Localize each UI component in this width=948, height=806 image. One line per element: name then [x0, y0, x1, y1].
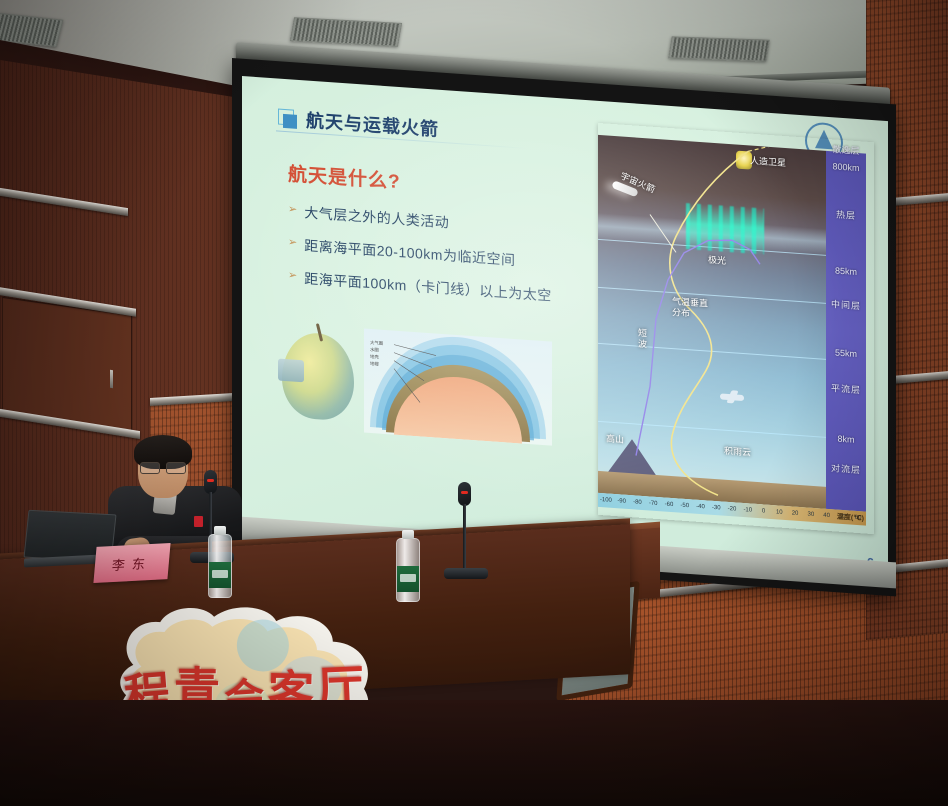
floor	[0, 700, 948, 806]
diagram-label: 气温垂直分布	[672, 296, 710, 321]
diagram-label: 积雨云	[724, 444, 751, 459]
arrow-bullet-icon: ➢	[288, 267, 297, 285]
bottle-cap	[402, 530, 414, 539]
microphone-led-icon	[461, 491, 468, 494]
list-item-label: 距离海平面20-100km为临近空间	[304, 235, 515, 270]
axis-tick: -30	[708, 505, 724, 512]
axis-tick: 0	[756, 508, 772, 515]
axis-tick: -20	[724, 506, 740, 513]
lecture-hall-photo: 中国航天 航天与运载火箭 航天是什么? ➢ 大气层之外的人类活动 ➢	[0, 0, 948, 806]
layer-altitude: 800km	[826, 161, 866, 174]
arrow-bullet-icon: ➢	[288, 201, 297, 219]
diagram-label: 人造卫星	[750, 154, 786, 170]
water-bottle[interactable]	[396, 538, 420, 602]
axis-tick: -40	[693, 504, 709, 511]
list-item: ➢ 距海平面100km（卡门线）以上为太空	[288, 267, 552, 305]
layer-name: 中间层	[826, 299, 866, 313]
axis-tick: 10	[771, 509, 787, 516]
axis-label: 温度(℃)	[837, 512, 864, 524]
atmosphere-layers-diagram: 宇宙火箭 人造卫星 极光 气温垂直分布 短波 高山 积雨云 散逸层 800km …	[598, 123, 874, 534]
door-handle-icon[interactable]	[110, 370, 113, 388]
presentation-slide: 中国航天 航天与运载火箭 航天是什么? ➢ 大气层之外的人类活动 ➢	[242, 76, 888, 577]
crust-label-group: 大气圈 水圈 地壳 地幔	[370, 339, 383, 368]
bottle-label	[397, 566, 419, 592]
layer-altitude: 85km	[826, 265, 866, 278]
list-item-label: 距海平面100km（卡门线）以上为太空	[304, 268, 552, 305]
glasses-icon	[140, 462, 186, 472]
microphone[interactable]	[440, 482, 490, 582]
diagram-label: 极光	[708, 253, 726, 267]
bottle-cap	[214, 526, 226, 535]
microphone-head	[458, 482, 471, 506]
layer-name: 热层	[826, 209, 866, 223]
axis-tick: -60	[661, 501, 677, 508]
microphone-head	[204, 470, 217, 494]
apple-earth-crust-diagram: 大气圈 水圈 地壳 地幔	[282, 317, 552, 452]
axis-tick: -50	[677, 502, 693, 509]
layer-name: 平流层	[826, 383, 866, 397]
axis-tick: -80	[630, 499, 646, 506]
diagram-label: 高山	[606, 431, 624, 445]
layer-name: 对流层	[826, 463, 866, 477]
atmosphere-scene: 宇宙火箭 人造卫星 极光 气温垂直分布 短波 高山 积雨云	[598, 135, 826, 509]
square-bullet-icon	[278, 108, 297, 128]
axis-tick: -90	[614, 498, 630, 505]
crust-label: 地幔	[370, 360, 383, 368]
bottle-label	[209, 562, 231, 588]
earth-crust-cross-section	[364, 329, 552, 446]
ceiling-vent-icon	[668, 36, 769, 61]
water-bottle[interactable]	[208, 534, 232, 598]
axis-tick: -10	[740, 507, 756, 514]
bullet-list: ➢ 大气层之外的人类活动 ➢ 距离海平面20-100km为临近空间 ➢ 距海平面…	[288, 201, 552, 318]
microphone-stem	[463, 504, 466, 570]
layer-altitude: 55km	[826, 347, 866, 360]
axis-tick: 40	[819, 512, 835, 519]
axis-tick: 30	[803, 511, 819, 518]
name-plate-label: 李东	[111, 552, 153, 573]
projector-screen: 中国航天 航天与运载火箭 航天是什么? ➢ 大气层之外的人类活动 ➢	[242, 76, 888, 577]
list-item-label: 大气层之外的人类活动	[304, 202, 449, 232]
layer-altitude: 8km	[826, 433, 866, 446]
microphone-base	[444, 568, 488, 579]
atmosphere-layer-bar: 散逸层 800km 热层 85km 中间层 55km 平流层 8km 对流层	[826, 151, 866, 512]
diagram-label: 短波	[638, 328, 650, 351]
name-plate: 李东	[93, 543, 170, 583]
list-item: ➢ 大气层之外的人类活动	[288, 201, 552, 239]
axis-tick: 20	[787, 510, 803, 517]
list-item: ➢ 距离海平面20-100km为临近空间	[288, 234, 552, 272]
axis-tick: -100	[598, 497, 614, 504]
slide-question-heading: 航天是什么?	[288, 159, 401, 194]
microphone-led-icon	[207, 479, 214, 482]
crust-leader-lines	[364, 329, 552, 446]
arrow-bullet-icon: ➢	[288, 234, 297, 252]
apple-cut-wedge	[278, 359, 304, 383]
layer-name: 散逸层	[826, 142, 866, 158]
axis-tick: -70	[645, 500, 661, 507]
shortwave-path-curve	[598, 135, 826, 509]
